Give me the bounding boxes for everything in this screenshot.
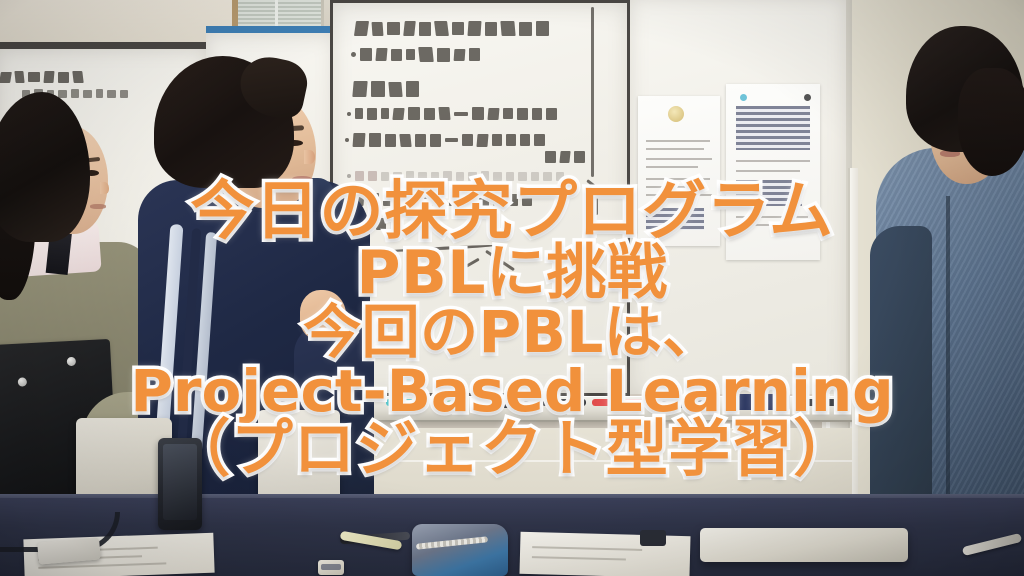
marker-black xyxy=(472,399,488,406)
handwriting-line xyxy=(0,71,83,83)
person-right-hair-side xyxy=(958,68,1024,176)
handwriting-faint-line xyxy=(347,171,564,181)
person-right xyxy=(900,26,1024,546)
sketch-curve xyxy=(485,250,515,271)
video-frame: 今日の探究プログラム PBLに挑戦 今回のPBLは、 Project-Based… xyxy=(0,0,1024,576)
marker-black xyxy=(796,399,850,406)
student-left-nose xyxy=(100,182,109,194)
whiteboard-main xyxy=(330,0,630,396)
small-dark-object xyxy=(640,530,666,546)
pouch-zipper xyxy=(416,536,488,549)
board-eraser xyxy=(494,398,538,408)
handwriting-heading xyxy=(355,21,549,36)
student-center-mouth xyxy=(292,176,312,183)
student-left-mouth xyxy=(90,204,106,209)
laptop-right xyxy=(700,528,908,562)
smartphone xyxy=(158,438,202,530)
sketch-curve xyxy=(379,244,499,253)
classroom-scene xyxy=(0,0,1024,576)
person-right-zipper xyxy=(946,196,950,526)
marker-green xyxy=(432,399,468,406)
marker-teal xyxy=(386,399,428,406)
arrow-stroke xyxy=(595,189,598,215)
eraser-gray xyxy=(660,396,718,408)
handwriting-heading xyxy=(353,81,419,97)
marker-red xyxy=(592,399,650,406)
eraser xyxy=(318,560,344,575)
handwriting-bullet xyxy=(345,133,545,147)
wall-document-right xyxy=(726,84,820,260)
pencil-pouch xyxy=(412,524,508,576)
eraser-navy xyxy=(728,394,790,410)
student-center-hand xyxy=(300,290,346,340)
sketch-curve xyxy=(452,258,479,276)
handwriting-bullet xyxy=(351,47,480,62)
handwriting-bullet xyxy=(347,107,557,120)
marker-black xyxy=(542,399,586,406)
cabinet-seam xyxy=(300,460,852,462)
wall-document-left xyxy=(638,96,720,246)
handwriting-bullet xyxy=(545,151,585,163)
handwriting-bullet xyxy=(345,193,532,206)
left-wall xyxy=(0,0,232,46)
window-blinds xyxy=(232,0,324,28)
board-seam xyxy=(591,7,594,177)
student-center-nose xyxy=(304,150,315,164)
student-left-hair xyxy=(0,92,90,242)
